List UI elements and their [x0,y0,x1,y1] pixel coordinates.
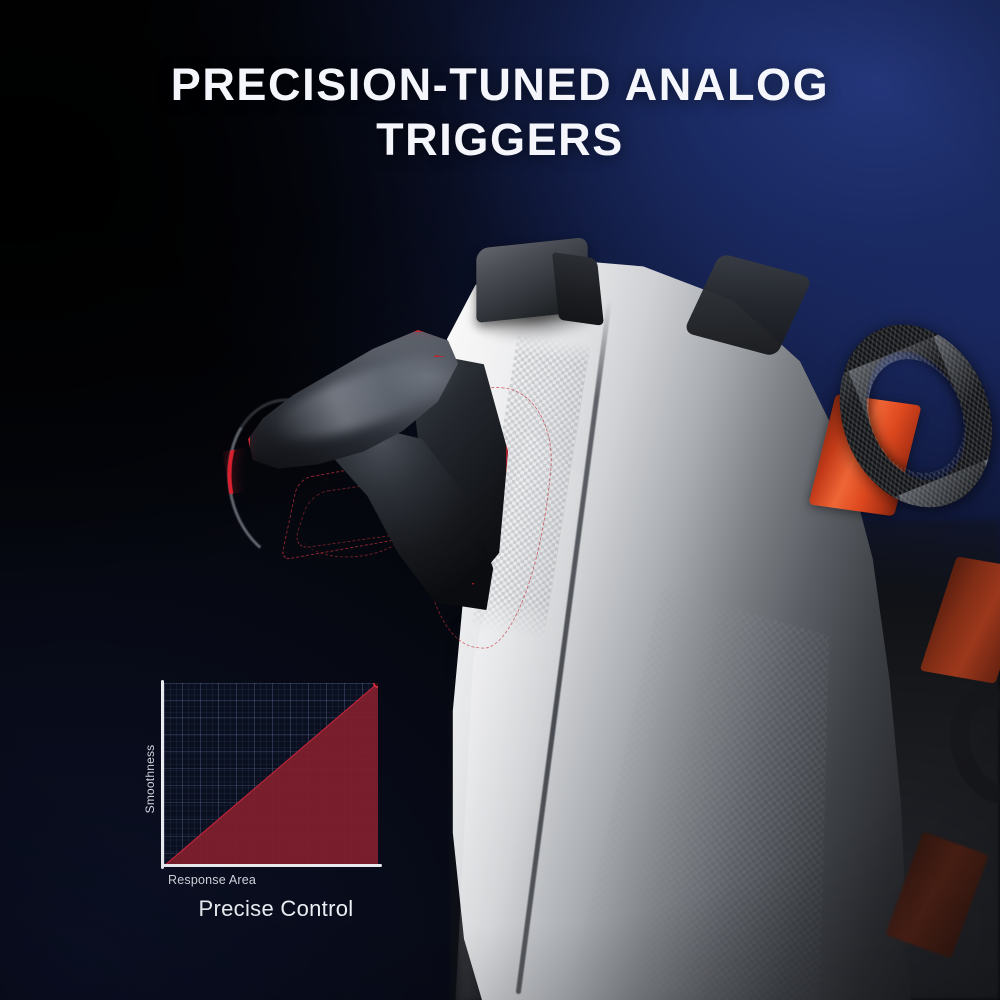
orange-barrel-lower [920,556,1000,683]
chart-y-axis [161,680,164,869]
shoulder-bumper-face [552,252,604,326]
response-curve-chart: Smoothness Response Area Precise Control [134,672,396,922]
chart-marker-svg [164,683,378,866]
thumbstick-ring-secondary [934,674,1000,818]
chart-caption: Precise Control [156,896,396,922]
chart-data-point-marker [374,683,378,687]
chart-x-axis-label: Response Area [168,873,256,887]
chart-x-axis [161,864,382,867]
chart-y-axis-label: Smoothness [143,719,157,839]
chart-plot-area [164,683,378,866]
product-marketing-image: PRECISION-TUNED ANALOG TRIGGERS [0,0,1000,1000]
